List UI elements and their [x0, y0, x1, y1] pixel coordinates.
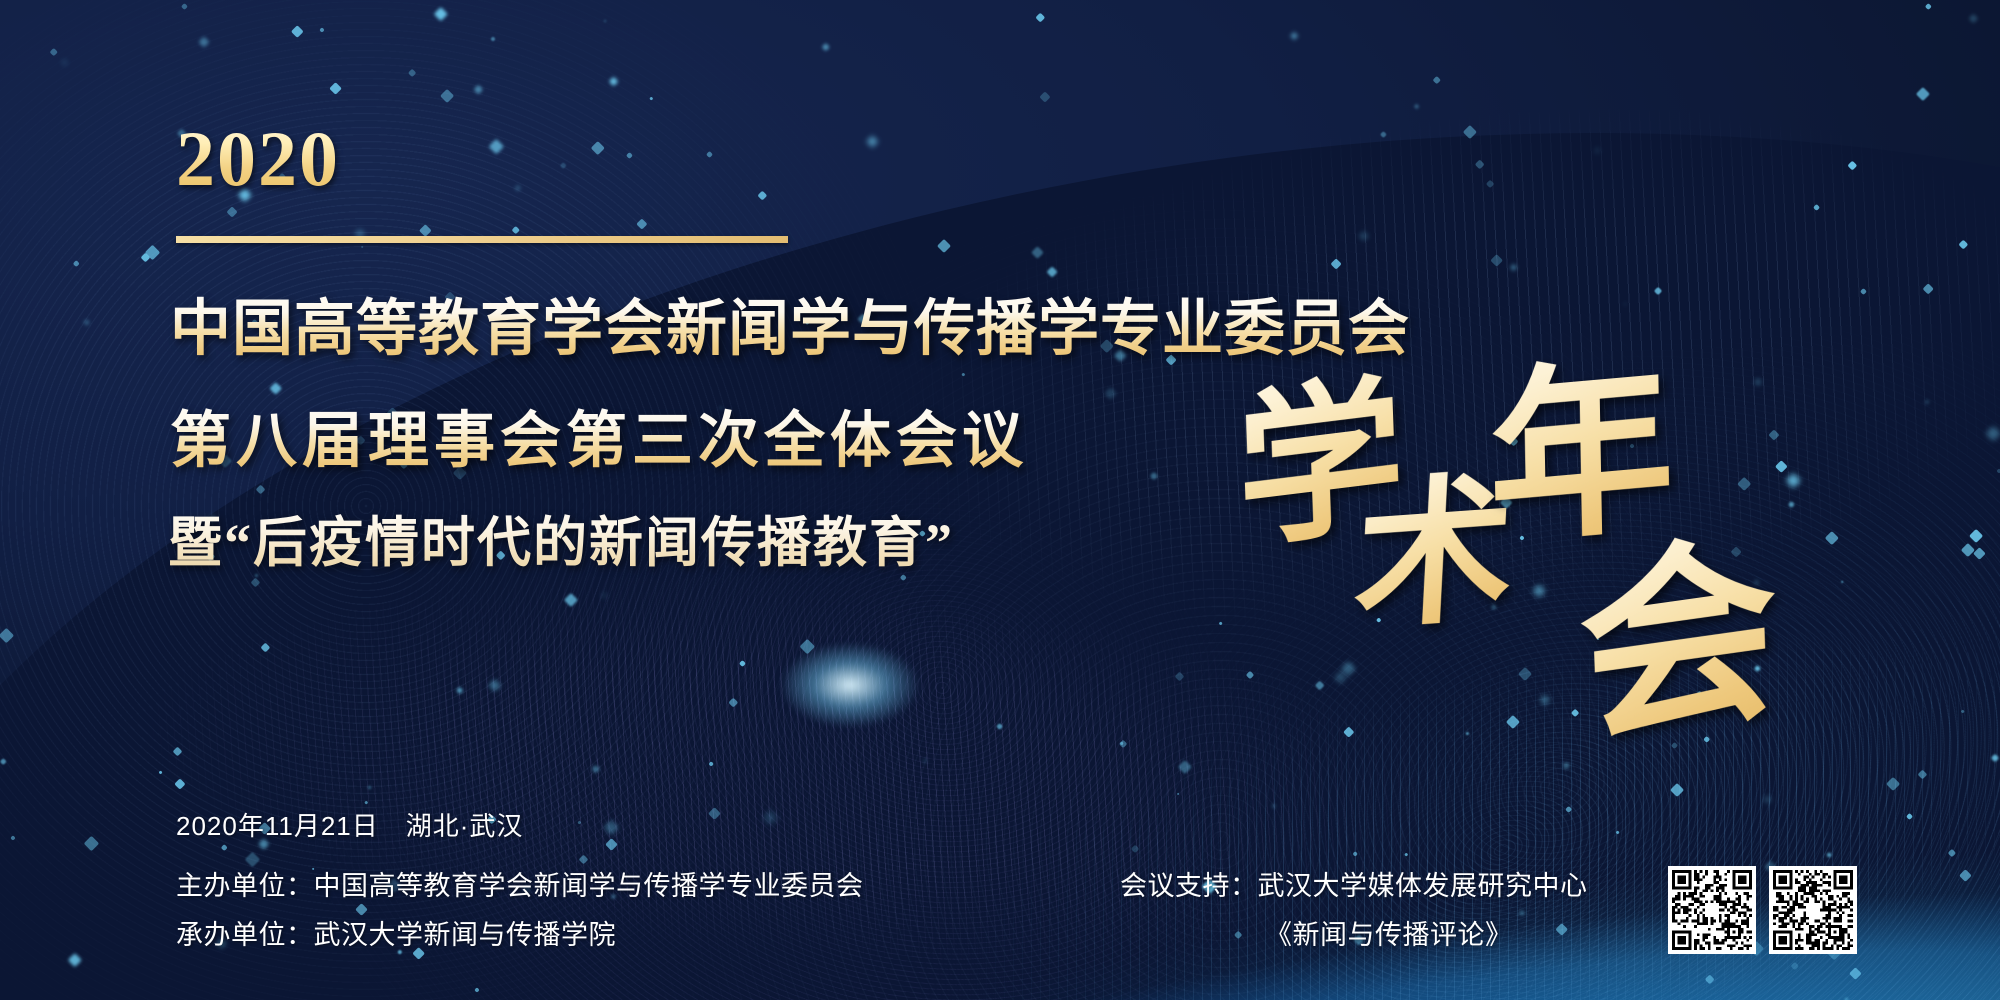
qr-code-wechat-official-image — [1672, 870, 1752, 950]
calligraphy-char-hui: 会 — [1574, 463, 1782, 782]
gold-divider-rule — [176, 236, 788, 243]
co-host-organization: 承办单位：武汉大学新闻与传播学院 — [176, 913, 616, 952]
host-organization: 主办单位：中国高等教育学会新闻学与传播学专业委员会 — [176, 864, 864, 903]
calligraphy-academic-annual-conference: 学 术 年 会 — [1236, 350, 1756, 680]
journal-name: 《新闻与传播评论》 — [1265, 913, 1513, 952]
conference-title-line-2: 第八届理事会第三次全体会议 — [170, 390, 1028, 479]
conference-banner: 2020 中国高等教育学会新闻学与传播学专业委员会 第八届理事会第三次全体会议 … — [0, 0, 2000, 1000]
conference-theme-line: 暨“后疫情时代的新闻传播教育” — [168, 498, 954, 577]
year-label: 2020 — [176, 120, 340, 198]
conference-support-line: 会议支持：武汉大学媒体发展研究中心 — [1120, 864, 1588, 903]
date-and-location: 2020年11月21日 湖北·武汉 — [176, 806, 523, 843]
qr-code-wechat-official[interactable] — [1668, 866, 1756, 954]
qr-code-journal-image — [1773, 870, 1853, 950]
qr-code-journal[interactable] — [1769, 866, 1857, 954]
conference-title-line-1: 中国高等教育学会新闻学与传播学专业委员会 — [170, 278, 1410, 367]
banner-content: 2020 中国高等教育学会新闻学与传播学专业委员会 第八届理事会第三次全体会议 … — [0, 0, 2000, 1000]
qr-code-group — [1668, 866, 1857, 954]
